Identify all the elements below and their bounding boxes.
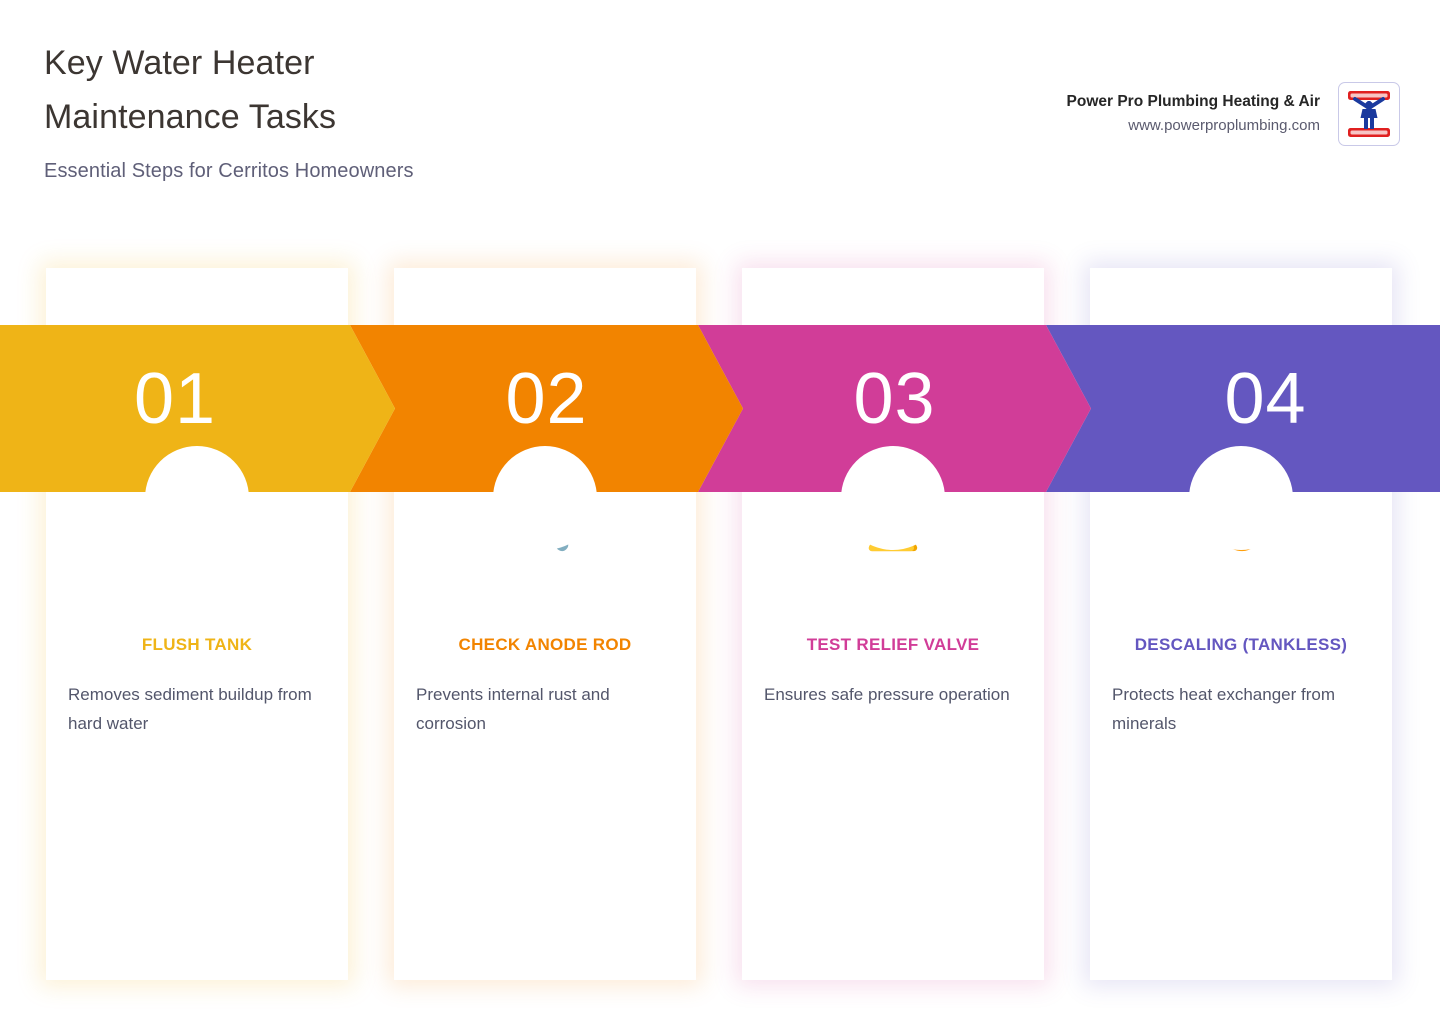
step-card-1[interactable]: 🧽 FLUSH TANK Removes sediment buildup fr… bbox=[46, 268, 348, 980]
page-header: Key Water Heater Maintenance Tasks Essen… bbox=[0, 0, 1440, 230]
step-description-1: Removes sediment buildup from hard water bbox=[68, 680, 326, 738]
brand-block: Power Pro Plumbing Heating & Air www.pow… bbox=[1067, 82, 1400, 146]
step-heading-2: CHECK ANODE ROD bbox=[406, 634, 684, 656]
title-block: Key Water Heater Maintenance Tasks Essen… bbox=[44, 36, 804, 184]
step-card-2[interactable]: 🔧 CHECK ANODE ROD Prevents internal rust… bbox=[394, 268, 696, 980]
step-card-4[interactable]: 🔥 DESCALING (TANKLESS) Protects heat exc… bbox=[1090, 268, 1392, 980]
page-title-line-2: Maintenance Tasks bbox=[44, 90, 804, 144]
warning-triangle-icon: ⚠️ bbox=[742, 500, 1044, 556]
step-heading-3: TEST RELIEF VALVE bbox=[754, 634, 1032, 656]
brand-name: Power Pro Plumbing Heating & Air bbox=[1067, 91, 1320, 113]
wrench-icon: 🔧 bbox=[394, 500, 696, 556]
step-heading-1: FLUSH TANK bbox=[58, 634, 336, 656]
page-title-line-1: Key Water Heater bbox=[44, 36, 804, 90]
step-description-3: Ensures safe pressure operation bbox=[764, 680, 1022, 709]
step-card-3[interactable]: ⚠️ TEST RELIEF VALVE Ensures safe pressu… bbox=[742, 268, 1044, 980]
sponge-icon: 🧽 bbox=[46, 500, 348, 556]
plumber-weightlifter-logo-icon bbox=[1338, 82, 1400, 146]
brand-text: Power Pro Plumbing Heating & Air www.pow… bbox=[1067, 91, 1320, 137]
brand-website-url[interactable]: www.powerproplumbing.com bbox=[1067, 115, 1320, 137]
fire-icon: 🔥 bbox=[1090, 500, 1392, 556]
step-description-4: Protects heat exchanger from minerals bbox=[1112, 680, 1370, 738]
page-subtitle: Essential Steps for Cerritos Homeowners bbox=[44, 158, 804, 184]
steps-container: 🧽 FLUSH TANK Removes sediment buildup fr… bbox=[0, 268, 1440, 982]
step-description-2: Prevents internal rust and corrosion bbox=[416, 680, 674, 738]
step-heading-4: DESCALING (TANKLESS) bbox=[1102, 634, 1380, 656]
